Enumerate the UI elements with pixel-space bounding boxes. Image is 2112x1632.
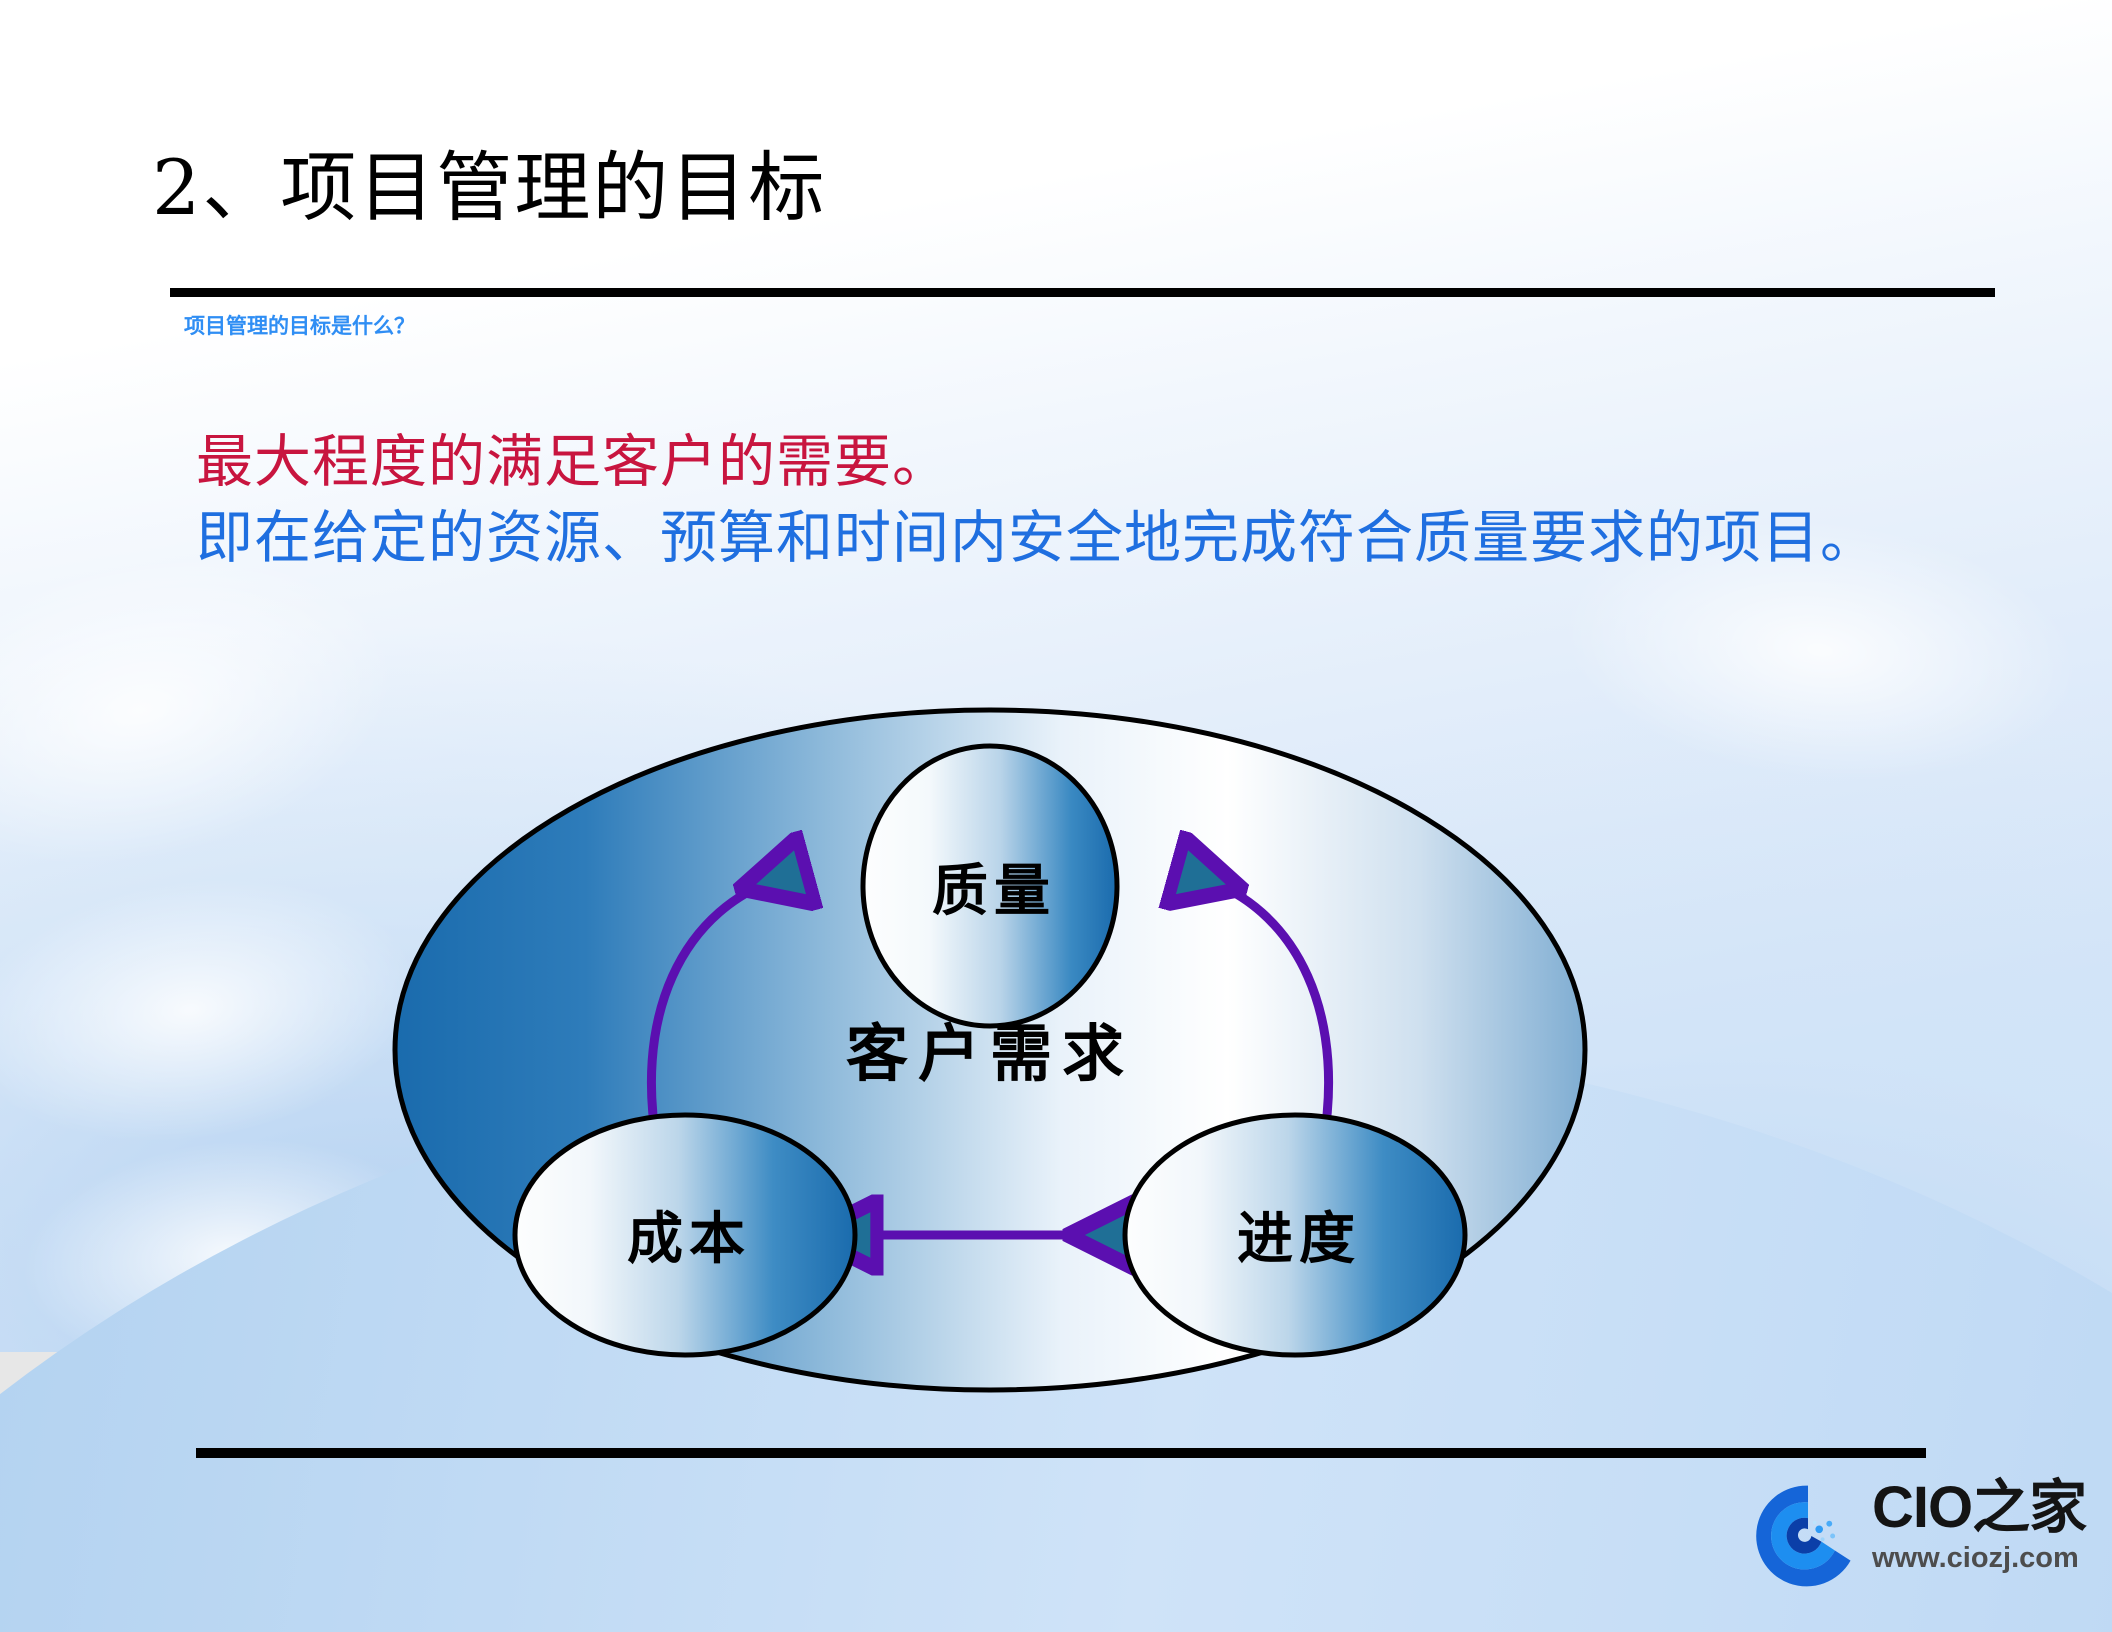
footer-divider [196,1448,1926,1458]
concept-diagram: 客户需求 质量 成本 进度 [360,690,1620,1410]
brand-logo: CIO之家 www.ciozj.com [1752,1478,2100,1618]
node-quality-label: 质量 [932,858,1056,924]
node-cost-label: 成本 [627,1206,751,1272]
node-schedule-label: 进度 [1237,1206,1361,1272]
cio-circle-logo-icon [1752,1480,1864,1592]
slide-canvas: 2、项目管理的目标 项目管理的目标是什么？ 最大程度的满足客户的需要。 即在给定… [0,0,2112,1632]
body-copy-block: 最大程度的满足客户的需要。 即在给定的资源、预算和时间内安全地完成符合质量要求的… [196,424,1996,576]
page-title: 2、项目管理的目标 [152,150,826,226]
brand-text-block: CIO之家 www.ciozj.com [1872,1478,2086,1575]
brand-name: CIO之家 [1872,1478,2086,1539]
body-line-primary: 最大程度的满足客户的需要。 [196,424,1996,500]
body-line-secondary: 即在给定的资源、预算和时间内安全地完成符合质量要求的项目。 [196,500,1996,576]
title-divider [170,288,1995,297]
brand-url: www.ciozj.com [1872,1543,2086,1575]
page-subtitle: 项目管理的目标是什么？ [184,310,415,340]
